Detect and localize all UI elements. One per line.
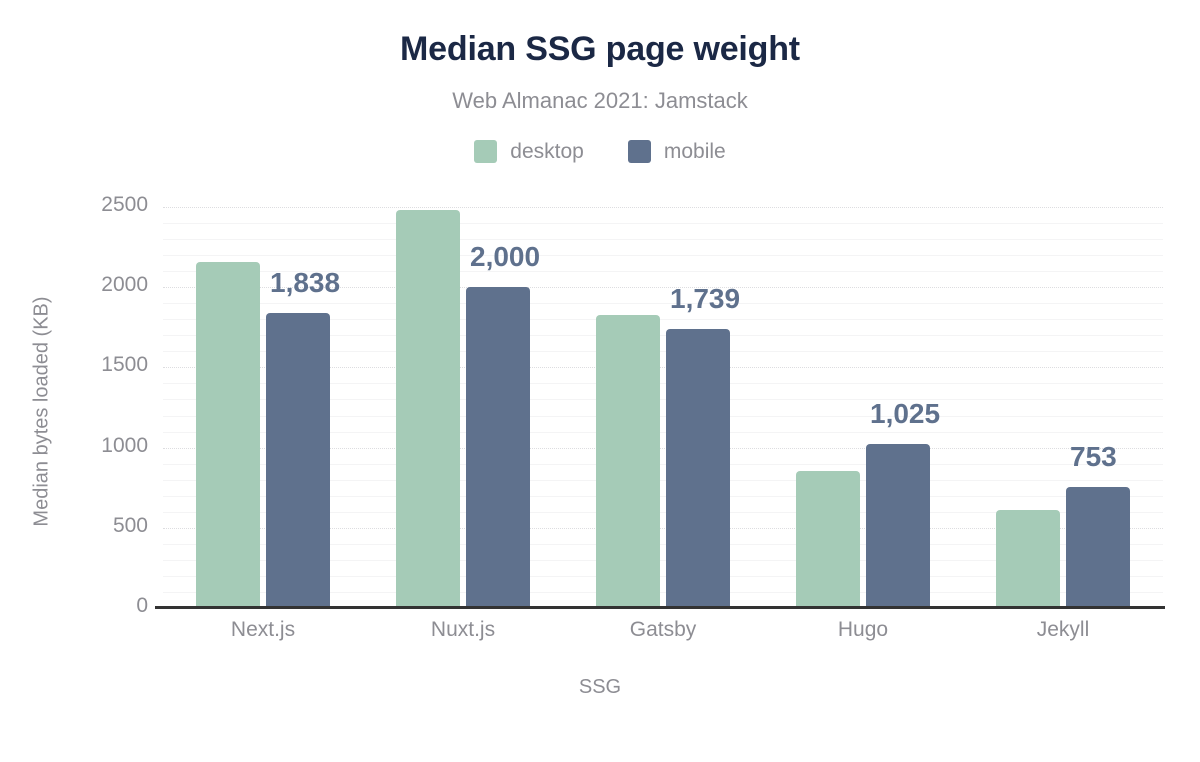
bar-mobile-nuxt-js[interactable] [466,287,530,608]
y-tick-label: 2500 [0,193,148,217]
chart-subtitle: Web Almanac 2021: Jamstack [0,88,1200,114]
bar-mobile-hugo[interactable] [866,444,930,608]
x-tick-label: Next.js [163,618,363,642]
gridline-minor [163,255,1163,256]
legend-label: desktop [510,141,584,162]
y-tick-label: 500 [0,514,148,538]
bar-desktop-hugo[interactable] [796,471,860,608]
x-tick-label: Hugo [763,618,963,642]
gridline-minor [163,223,1163,224]
bar-mobile-next-js[interactable] [266,313,330,608]
y-axis-title: Median bytes loaded (KB) [31,62,54,762]
chart-container: Median SSG page weight Web Almanac 2021:… [0,0,1200,742]
legend-label: mobile [664,141,726,162]
bar-desktop-jekyll[interactable] [996,510,1060,608]
x-tick-label: Gatsby [563,618,763,642]
bar-desktop-nuxt-js[interactable] [396,210,460,608]
x-tick-label: Jekyll [963,618,1163,642]
chart-title: Median SSG page weight [0,30,1200,69]
x-axis-baseline [155,606,1165,609]
plot-area: 1,8382,0001,7391,025753 [163,207,1163,608]
legend-swatch-mobile [628,140,651,163]
gridline-major [163,207,1163,208]
legend-swatch-desktop [474,140,497,163]
x-axis-title: SSG [0,676,1200,699]
y-tick-label: 1500 [0,353,148,377]
bar-desktop-next-js[interactable] [196,262,260,608]
bar-value-label: 1,838 [270,267,340,299]
bar-mobile-jekyll[interactable] [1066,487,1130,608]
bar-mobile-gatsby[interactable] [666,329,730,608]
y-tick-label: 0 [0,594,148,618]
bar-value-label: 1,025 [870,398,940,430]
y-tick-label: 2000 [0,273,148,297]
bar-value-label: 1,739 [670,283,740,315]
gridline-minor [163,303,1163,304]
legend-item-mobile[interactable]: mobile [628,140,726,163]
x-tick-label: Nuxt.js [363,618,563,642]
bar-desktop-gatsby[interactable] [596,315,660,608]
chart-legend: desktopmobile [0,140,1200,163]
bar-value-label: 753 [1070,441,1117,473]
y-tick-label: 1000 [0,434,148,458]
gridline-minor [163,239,1163,240]
legend-item-desktop[interactable]: desktop [474,140,584,163]
bar-value-label: 2,000 [470,241,540,273]
